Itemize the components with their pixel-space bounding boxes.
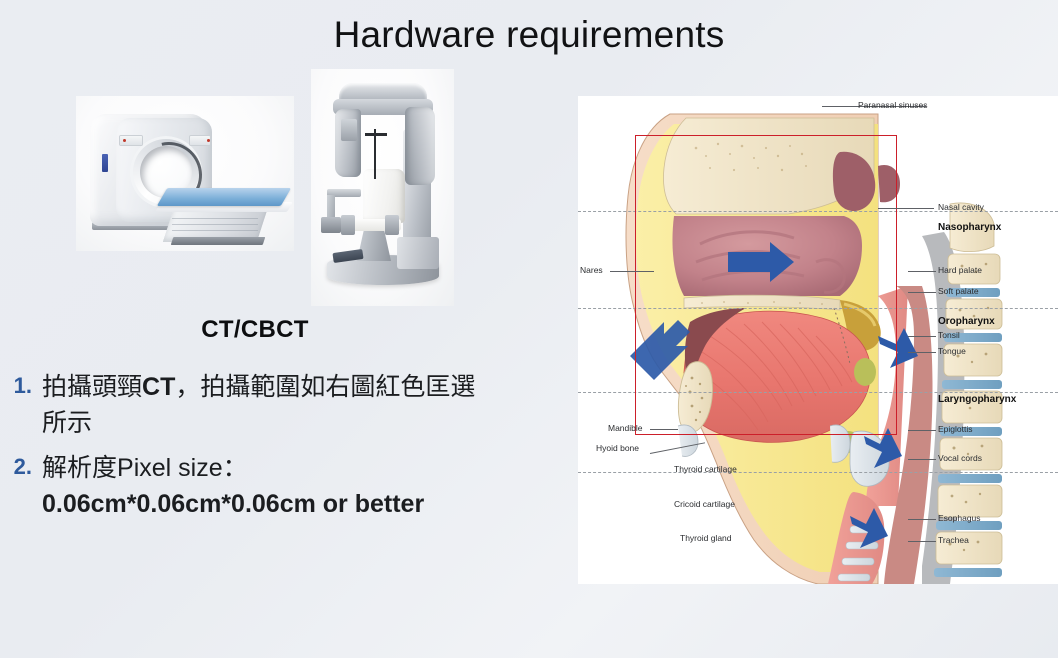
list-item: 2. 解析度Pixel size： 0.06cm*0.06cm*0.06cm o… — [0, 451, 575, 522]
cbct-seat-back — [363, 169, 405, 223]
ct-indicator-dot — [123, 139, 126, 142]
label-thyroid-gland: Thyroid gland — [680, 533, 732, 543]
label-epiglottis: Epiglottis — [938, 424, 973, 434]
label-esophagus: Esophagus — [938, 513, 981, 523]
label-paranasal-sinuses: Paranasal sinuses — [858, 100, 927, 110]
text-segment-en: CT — [142, 373, 175, 401]
leader-line — [650, 429, 678, 430]
label-oropharynx: Oropharynx — [938, 316, 995, 327]
region-divider-bottom — [578, 472, 1058, 473]
list-item-number: 1. — [0, 370, 42, 401]
leader-line — [908, 430, 936, 431]
label-nasal-cavity: Nasal cavity — [938, 202, 984, 212]
leader-line — [908, 271, 936, 272]
label-tonsil: Tonsil — [938, 330, 960, 340]
cbct-column-base — [397, 237, 439, 269]
ct-table-base — [171, 237, 266, 245]
ct-pedestal-line — [172, 230, 258, 231]
slide: Hardware requirements — [0, 0, 1058, 658]
label-laryngopharynx: Laryngopharynx — [938, 394, 1016, 405]
leader-line — [908, 519, 936, 520]
cbct-arm-right — [405, 107, 435, 185]
leader-line — [908, 292, 936, 293]
ct-patient-table — [157, 188, 291, 206]
ct-indicator-dot — [207, 139, 210, 142]
leader-line — [908, 336, 936, 337]
ct-pedestal-line — [172, 218, 258, 219]
scan-range-selection-box — [635, 135, 897, 435]
ct-scanner-photo — [76, 96, 294, 251]
label-mandible: Mandible — [608, 423, 643, 433]
text-segment: 拍攝頭頸 — [42, 373, 142, 401]
list-item-body: 解析度Pixel size： 0.06cm*0.06cm*0.06cm or b… — [42, 451, 424, 522]
label-vocal-cords: Vocal cords — [938, 453, 982, 463]
text-segment: 解析度 — [42, 454, 117, 482]
requirements-list: 1. 拍攝頭頸CT，拍攝範圍如右圖紅色匡選 所示 2. 解析度Pixel siz… — [0, 370, 575, 532]
cbct-adjust-knob — [321, 217, 341, 233]
label-hard-palate: Hard palate — [938, 265, 982, 275]
text-segment: ： — [223, 454, 248, 482]
equipment-caption: CT/CBCT — [0, 316, 510, 344]
label-trachea: Trachea — [938, 535, 969, 545]
cbct-head-bracket — [341, 215, 355, 235]
label-soft-palate: Soft palate — [938, 286, 979, 296]
leader-line — [908, 541, 936, 542]
list-item-number: 2. — [0, 451, 42, 482]
page-title: Hardware requirements — [0, 14, 1058, 56]
text-segment: ，拍攝範圍如右圖紅色匡選 — [175, 373, 475, 401]
cbct-head-bracket — [385, 215, 399, 235]
cbct-detector — [341, 119, 357, 141]
list-item-line: 解析度Pixel size： — [42, 451, 424, 487]
leader-line — [908, 459, 936, 460]
cbct-alignment-marker — [365, 133, 387, 136]
label-nares: Nares — [580, 265, 603, 275]
list-item: 1. 拍攝頭頸CT，拍攝範圍如右圖紅色匡選 所示 — [0, 370, 575, 441]
label-thyroid-cartilage: Thyroid cartilage — [674, 464, 737, 474]
ct-brand-stripe — [102, 154, 108, 172]
list-item-body: 拍攝頭頸CT，拍攝範圍如右圖紅色匡選 所示 — [42, 370, 475, 441]
label-hyoid-bone: Hyoid bone — [596, 443, 639, 453]
ct-pedestal-line — [172, 224, 258, 225]
list-item-line: 所示 — [42, 406, 475, 442]
label-nasopharynx: Nasopharynx — [938, 222, 1001, 233]
leader-line — [610, 271, 654, 272]
label-tongue: Tongue — [938, 346, 966, 356]
cbct-machine-photo — [311, 69, 454, 306]
anatomy-diagram: Paranasal sinuses Nasal cavity Nasophary… — [578, 96, 1058, 584]
leader-line — [878, 208, 934, 209]
label-cricoid-cartilage: Cricoid cartilage — [674, 499, 735, 509]
list-item-line: 0.06cm*0.06cm*0.06cm or better — [42, 487, 424, 523]
list-item-line: 拍攝頭頸CT，拍攝範圍如右圖紅色匡選 — [42, 370, 475, 406]
leader-line — [908, 352, 936, 353]
cbct-alignment-marker — [374, 129, 376, 179]
text-segment-en: Pixel size — [117, 454, 223, 482]
